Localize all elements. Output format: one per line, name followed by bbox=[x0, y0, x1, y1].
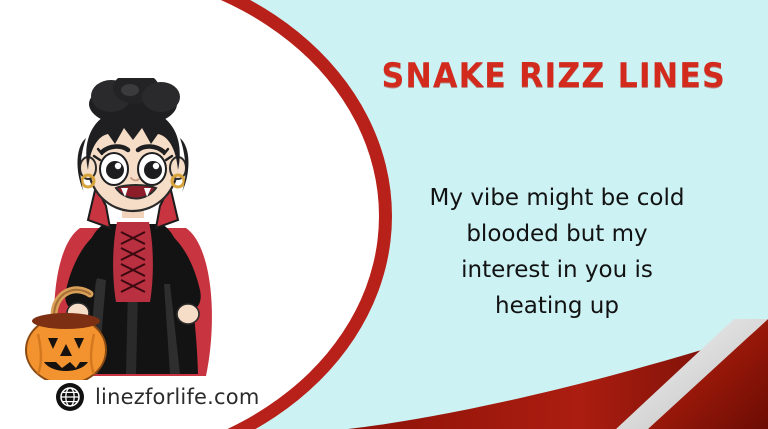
quote-line: My vibe might be cold bbox=[404, 180, 710, 216]
vampire-girl-illustration bbox=[18, 78, 248, 380]
page-title: SNAKE RIZZ LINES bbox=[382, 56, 635, 96]
quote-line: heating up bbox=[404, 288, 710, 324]
bottom-right-swoosh bbox=[348, 319, 768, 429]
globe-icon bbox=[56, 383, 84, 411]
quote-card: SNAKE RIZZ LINES My vibe might be cold b… bbox=[0, 0, 768, 429]
watermark-site: linezforlife.com bbox=[95, 385, 260, 409]
quote-line: blooded but my bbox=[404, 216, 710, 252]
quote-text: My vibe might be cold blooded but my int… bbox=[404, 180, 710, 324]
quote-line: interest in you is bbox=[404, 252, 710, 288]
watermark: linezforlife.com bbox=[56, 383, 260, 411]
